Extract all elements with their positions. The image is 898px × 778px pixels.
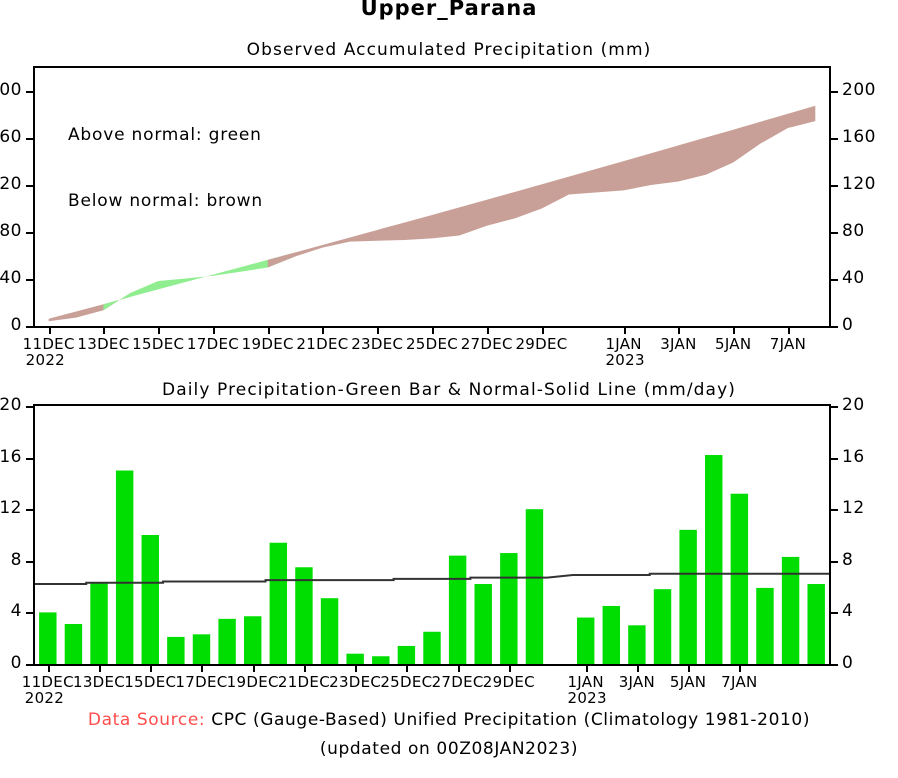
y-axis-label: 200 (842, 82, 876, 99)
panel1-plot-area (35, 68, 829, 326)
y-axis-tick (26, 91, 35, 93)
x-axis-tick (377, 326, 379, 334)
daily-precip-bar (475, 584, 492, 664)
panel2-title: Daily Precipitation-Green Bar & Normal-S… (0, 380, 898, 400)
x-axis-label: 25DEC (406, 336, 458, 352)
daily-precip-bar (372, 656, 389, 664)
x-axis-label: 27DEC (461, 336, 513, 352)
plot-svg (35, 68, 829, 326)
y-axis-tick (829, 561, 838, 563)
y-axis-tick (26, 279, 35, 281)
daily-precip-bar (116, 471, 133, 665)
x-axis-label: 1JAN2023 (602, 336, 644, 368)
x-axis-tick (213, 326, 215, 334)
daily-precip-bar (398, 646, 415, 664)
y-axis-tick (26, 664, 35, 666)
x-axis-year-label: 2022 (23, 352, 75, 368)
x-axis-tick (788, 326, 790, 334)
x-axis-label: 19DEC (242, 336, 294, 352)
y-axis-label: 8 (11, 552, 22, 569)
x-axis-label: 29DEC (483, 674, 535, 690)
y-axis-tick (26, 561, 35, 563)
daily-precipitation-plot: 00448812121616202011DEC202213DEC15DEC17D… (33, 404, 831, 666)
y-axis-tick (26, 406, 35, 408)
x-axis-tick (586, 664, 588, 672)
x-axis-tick (432, 326, 434, 334)
daily-precip-bar (90, 583, 107, 664)
y-axis-tick (26, 612, 35, 614)
x-axis-tick (103, 326, 105, 334)
y-axis-tick (26, 326, 35, 328)
y-axis-label: 200 (0, 82, 22, 99)
daily-precip-bar (731, 494, 748, 664)
x-axis-tick (322, 326, 324, 334)
x-axis-tick (48, 664, 50, 672)
y-axis-label: 120 (842, 176, 876, 193)
x-axis-year-label: 2023 (602, 352, 644, 368)
above-normal-band (103, 252, 295, 310)
y-axis-label: 0 (842, 655, 853, 672)
x-axis-label: 5JAN (670, 674, 706, 690)
y-axis-label: 0 (11, 655, 22, 672)
daily-precip-bar (321, 598, 338, 664)
y-axis-label: 16 (842, 449, 865, 466)
panel1-title: Observed Accumulated Precipitation (mm) (0, 40, 898, 60)
data-source-line: Data Source: CPC (Gauge-Based) Unified P… (0, 706, 898, 735)
plot-svg (35, 406, 829, 664)
x-axis-tick (158, 326, 160, 334)
daily-precip-bar (807, 584, 824, 664)
x-axis-tick (355, 664, 357, 672)
y-axis-label: 0 (11, 317, 22, 334)
y-axis-label: 40 (0, 270, 22, 287)
x-axis-label: 23DEC (351, 336, 403, 352)
updated-line: (updated on 00Z08JAN2023) (0, 735, 898, 764)
x-axis-label: 17DEC (187, 336, 239, 352)
x-axis-label: 5JAN (715, 336, 751, 352)
x-axis-tick (406, 664, 408, 672)
chart-page: Upper_Parana Observed Accumulated Precip… (0, 0, 898, 778)
x-axis-label: 15DEC (132, 336, 184, 352)
y-axis-tick (829, 326, 838, 328)
y-axis-tick (829, 406, 838, 408)
y-axis-label: 160 (842, 129, 876, 146)
daily-precip-bar (603, 606, 620, 664)
daily-precip-bar (526, 509, 543, 664)
x-axis-label: 21DEC (296, 336, 348, 352)
daily-precip-bar (270, 543, 287, 664)
x-axis-label: 3JAN (619, 674, 655, 690)
y-axis-tick (829, 509, 838, 511)
y-axis-label: 120 (0, 176, 22, 193)
y-axis-label: 80 (842, 223, 865, 240)
y-axis-tick (829, 232, 838, 234)
x-axis-tick (678, 326, 680, 334)
x-axis-label: 13DEC (73, 674, 125, 690)
y-axis-tick (829, 91, 838, 93)
daily-precip-bar (756, 588, 773, 664)
daily-precip-bar (142, 535, 159, 664)
x-axis-label: 17DEC (175, 674, 227, 690)
x-axis-tick (637, 664, 639, 672)
daily-precip-bar (39, 612, 56, 664)
daily-precip-bar (679, 530, 696, 664)
x-axis-tick (99, 664, 101, 672)
y-axis-label: 12 (0, 500, 22, 517)
daily-precip-bar (449, 556, 466, 664)
daily-precip-bar (628, 625, 645, 664)
accumulated-precipitation-plot: Above normal: green Below normal: brown … (33, 66, 831, 328)
x-axis-label: 7JAN (770, 336, 806, 352)
daily-precip-bar (577, 618, 594, 664)
x-axis-label: 25DEC (380, 674, 432, 690)
x-axis-tick (487, 326, 489, 334)
y-axis-tick (26, 509, 35, 511)
y-axis-label: 20 (842, 397, 865, 414)
y-axis-tick (829, 612, 838, 614)
x-axis-label: 11DEC2022 (23, 336, 75, 368)
y-axis-label: 4 (842, 603, 853, 620)
x-axis-tick (458, 664, 460, 672)
daily-precip-bar (167, 637, 184, 664)
y-axis-label: 12 (842, 500, 865, 517)
daily-precip-bar (705, 455, 722, 664)
x-axis-label: 13DEC (77, 336, 129, 352)
x-axis-tick (542, 326, 544, 334)
x-axis-label: 29DEC (515, 336, 567, 352)
data-source-text: CPC (Gauge-Based) Unified Precipitation … (205, 710, 810, 730)
y-axis-label: 40 (842, 270, 865, 287)
x-axis-tick (150, 664, 152, 672)
y-axis-tick (829, 279, 838, 281)
y-axis-label: 0 (842, 317, 853, 334)
below-normal-band (268, 106, 816, 268)
x-axis-tick (509, 664, 511, 672)
daily-precip-bar (295, 567, 312, 664)
daily-precip-bar (346, 654, 363, 664)
x-axis-tick (624, 326, 626, 334)
y-axis-tick (829, 664, 838, 666)
x-axis-label: 19DEC (227, 674, 279, 690)
y-axis-label: 16 (0, 449, 22, 466)
below-normal-band (49, 293, 131, 322)
daily-precip-bar (244, 616, 261, 664)
y-axis-tick (829, 138, 838, 140)
y-axis-tick (26, 458, 35, 460)
daily-precip-bar (654, 589, 671, 664)
y-axis-tick (26, 185, 35, 187)
x-axis-label: 11DEC2022 (22, 674, 74, 706)
daily-precip-bar (423, 632, 440, 664)
x-axis-tick (253, 664, 255, 672)
page-title: Upper_Parana (0, 0, 898, 20)
y-axis-tick (829, 458, 838, 460)
x-axis-label: 23DEC (329, 674, 381, 690)
y-axis-label: 4 (11, 603, 22, 620)
daily-precip-bar (218, 619, 235, 664)
y-axis-label: 8 (842, 552, 853, 569)
y-axis-tick (26, 138, 35, 140)
daily-precip-bar (500, 553, 517, 664)
footer: Data Source: CPC (Gauge-Based) Unified P… (0, 706, 898, 764)
x-axis-label: 3JAN (660, 336, 696, 352)
y-axis-tick (26, 232, 35, 234)
daily-precip-bar (193, 634, 210, 664)
y-axis-tick (829, 185, 838, 187)
x-axis-label: 15DEC (124, 674, 176, 690)
x-axis-tick (739, 664, 741, 672)
x-axis-label: 1JAN2023 (564, 674, 606, 706)
data-source-label: Data Source: (88, 710, 205, 730)
panel2-plot-area (35, 406, 829, 664)
x-axis-tick (201, 664, 203, 672)
daily-precip-bar (65, 624, 82, 664)
x-axis-label: 27DEC (432, 674, 484, 690)
x-axis-year-label: 2022 (22, 690, 74, 706)
x-axis-tick (304, 664, 306, 672)
y-axis-label: 20 (0, 397, 22, 414)
x-axis-tick (268, 326, 270, 334)
x-axis-tick (688, 664, 690, 672)
x-axis-label: 7JAN (721, 674, 757, 690)
x-axis-year-label: 2023 (564, 690, 606, 706)
x-axis-tick (733, 326, 735, 334)
y-axis-label: 80 (0, 223, 22, 240)
y-axis-label: 160 (0, 129, 22, 146)
x-axis-label: 21DEC (278, 674, 330, 690)
x-axis-tick (49, 326, 51, 334)
